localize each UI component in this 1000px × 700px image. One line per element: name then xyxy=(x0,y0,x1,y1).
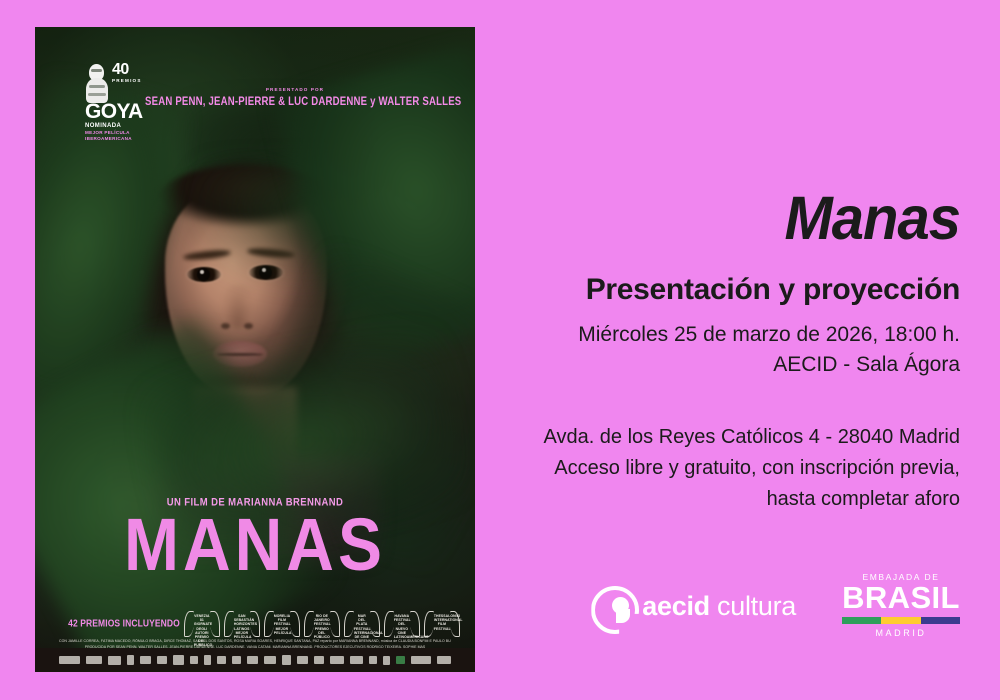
event-subtitle: Presentación y proyección xyxy=(586,273,960,307)
embassy-of-brazil-logo: EMBAJADA DE BRASIL MADRID xyxy=(842,572,960,640)
event-date: Miércoles 25 de marzo de 2026, 18:00 h. xyxy=(578,320,960,350)
distributor-logo xyxy=(314,656,324,664)
goya-premios-label: PREMIOS xyxy=(112,78,142,84)
laurel-text: RIO DE JANEIRO FESTIVAL PREMIO DEL PÚBLI… xyxy=(314,614,330,639)
laurel-badge: THESSALONIKI INTERNATIONAL FILM FESTIVAL xyxy=(424,610,460,636)
brasil-wordmark: BRASIL xyxy=(842,582,960,614)
distributor-logo xyxy=(330,656,344,664)
laurel-text: HAVANA FESTIVAL DEL NUEVO CINE LATINOAME… xyxy=(394,614,410,639)
distributor-logo xyxy=(247,656,257,664)
brazil-flag-bar xyxy=(842,617,960,624)
poster-film-title: MANAS xyxy=(35,512,475,577)
flag-segment xyxy=(940,617,960,624)
event-title: Manas xyxy=(784,188,960,249)
distributor-logo xyxy=(411,656,430,664)
distributor-logo xyxy=(204,655,211,665)
goya-category-line2: IBEROAMERICANA xyxy=(85,136,159,142)
laurel-text: MORELIA FILM FESTIVAL MEJOR PELÍCULA xyxy=(274,614,290,635)
distributor-logo-strip xyxy=(35,648,475,672)
flag-segment xyxy=(862,617,882,624)
goya-statue-icon xyxy=(85,63,109,103)
distributor-logo xyxy=(127,655,134,665)
distributor-logo xyxy=(140,656,151,664)
distributor-logo xyxy=(282,655,291,665)
distributor-logo xyxy=(232,656,241,664)
presented-by-names: SEAN PENN, JEAN-PIERRE & LUC DARDENNE y … xyxy=(145,95,445,108)
event-address: Avda. de los Reyes Católicos 4 - 28040 M… xyxy=(543,422,960,453)
flag-segment xyxy=(901,617,921,624)
laurel-badge: VENEZIA 81 GIORNATE DEGLI AUTORI PREMIO … xyxy=(184,610,220,636)
goya-edition-number: 40 xyxy=(112,63,142,77)
presented-by-block: PRESENTADO POR SEAN PENN, JEAN-PIERRE & … xyxy=(145,87,445,106)
aecid-cultura: cultura xyxy=(717,591,796,621)
aecid-name: aecid xyxy=(642,591,710,621)
goya-nominada-label: NOMINADA xyxy=(85,123,159,130)
awards-count-label: 42 PREMIOS INCLUYENDO xyxy=(68,617,180,629)
event-address-block: Avda. de los Reyes Católicos 4 - 28040 M… xyxy=(543,422,960,515)
poster-announcement-page: 40 PREMIOS GOYA NOMINADA MEJOR PELÍCULA … xyxy=(0,0,1000,700)
aecid-cultura-logo: aecid cultura xyxy=(591,586,796,626)
distributor-logo xyxy=(437,656,451,664)
distributor-logo xyxy=(217,656,227,664)
flag-segment xyxy=(881,617,901,624)
laurel-badge: MORELIA FILM FESTIVAL MEJOR PELÍCULA xyxy=(264,610,300,636)
flag-segment xyxy=(842,617,862,624)
distributor-logo xyxy=(157,656,167,664)
laurel-badge: SAN SEBASTIÁN HORIZONTES LATINOS MEJOR P… xyxy=(224,610,260,636)
distributor-logo xyxy=(173,655,183,665)
poster-title-block: UN FILM DE MARIANNA BRENNAND MANAS xyxy=(35,497,475,570)
awards-laurels-row: 42 PREMIOS INCLUYENDO VENEZIA 81 GIORNAT… xyxy=(75,610,453,636)
presented-by-label: PRESENTADO POR xyxy=(145,87,445,92)
distributor-logo xyxy=(297,656,308,664)
event-info-panel: Manas Presentación y proyección Miércole… xyxy=(520,0,980,700)
distributor-logo xyxy=(383,656,390,665)
event-venue: AECID - Sala Ágora xyxy=(773,350,960,380)
laurel-badge: HAVANA FESTIVAL DEL NUEVO CINE LATINOAME… xyxy=(384,610,420,636)
aecid-wordmark: aecid cultura xyxy=(642,592,796,620)
laurel-text: THESSALONIKI INTERNATIONAL FILM FESTIVAL xyxy=(434,614,450,631)
embassy-city: MADRID xyxy=(842,627,960,640)
laurel-badge: RIO DE JANEIRO FESTIVAL PREMIO DEL PÚBLI… xyxy=(304,610,340,636)
laurel-text: MAR DEL PLATA FESTIVAL INTERNACIONAL DE … xyxy=(354,614,370,639)
distributor-logo xyxy=(108,656,121,665)
event-access-line-1: Acceso libre y gratuito, con inscripción… xyxy=(543,453,960,484)
event-access-line-2: hasta completar aforo xyxy=(543,484,960,515)
film-poster: 40 PREMIOS GOYA NOMINADA MEJOR PELÍCULA … xyxy=(35,27,475,672)
distributor-logo xyxy=(369,656,377,664)
laurel-badge: MAR DEL PLATA FESTIVAL INTERNACIONAL DE … xyxy=(344,610,380,636)
distributor-logo xyxy=(264,656,276,664)
distributor-logo xyxy=(350,656,363,664)
laurel-text: SAN SEBASTIÁN HORIZONTES LATINOS MEJOR P… xyxy=(234,614,250,639)
distributor-logo xyxy=(396,656,405,664)
distributor-logo xyxy=(86,656,102,664)
flag-segment xyxy=(921,617,941,624)
distributor-logo xyxy=(190,656,198,664)
aecid-circle-icon xyxy=(591,586,631,626)
sponsor-logos: aecid cultura EMBAJADA DE BRASIL MADRID xyxy=(591,572,960,640)
distributor-logo xyxy=(59,656,80,664)
